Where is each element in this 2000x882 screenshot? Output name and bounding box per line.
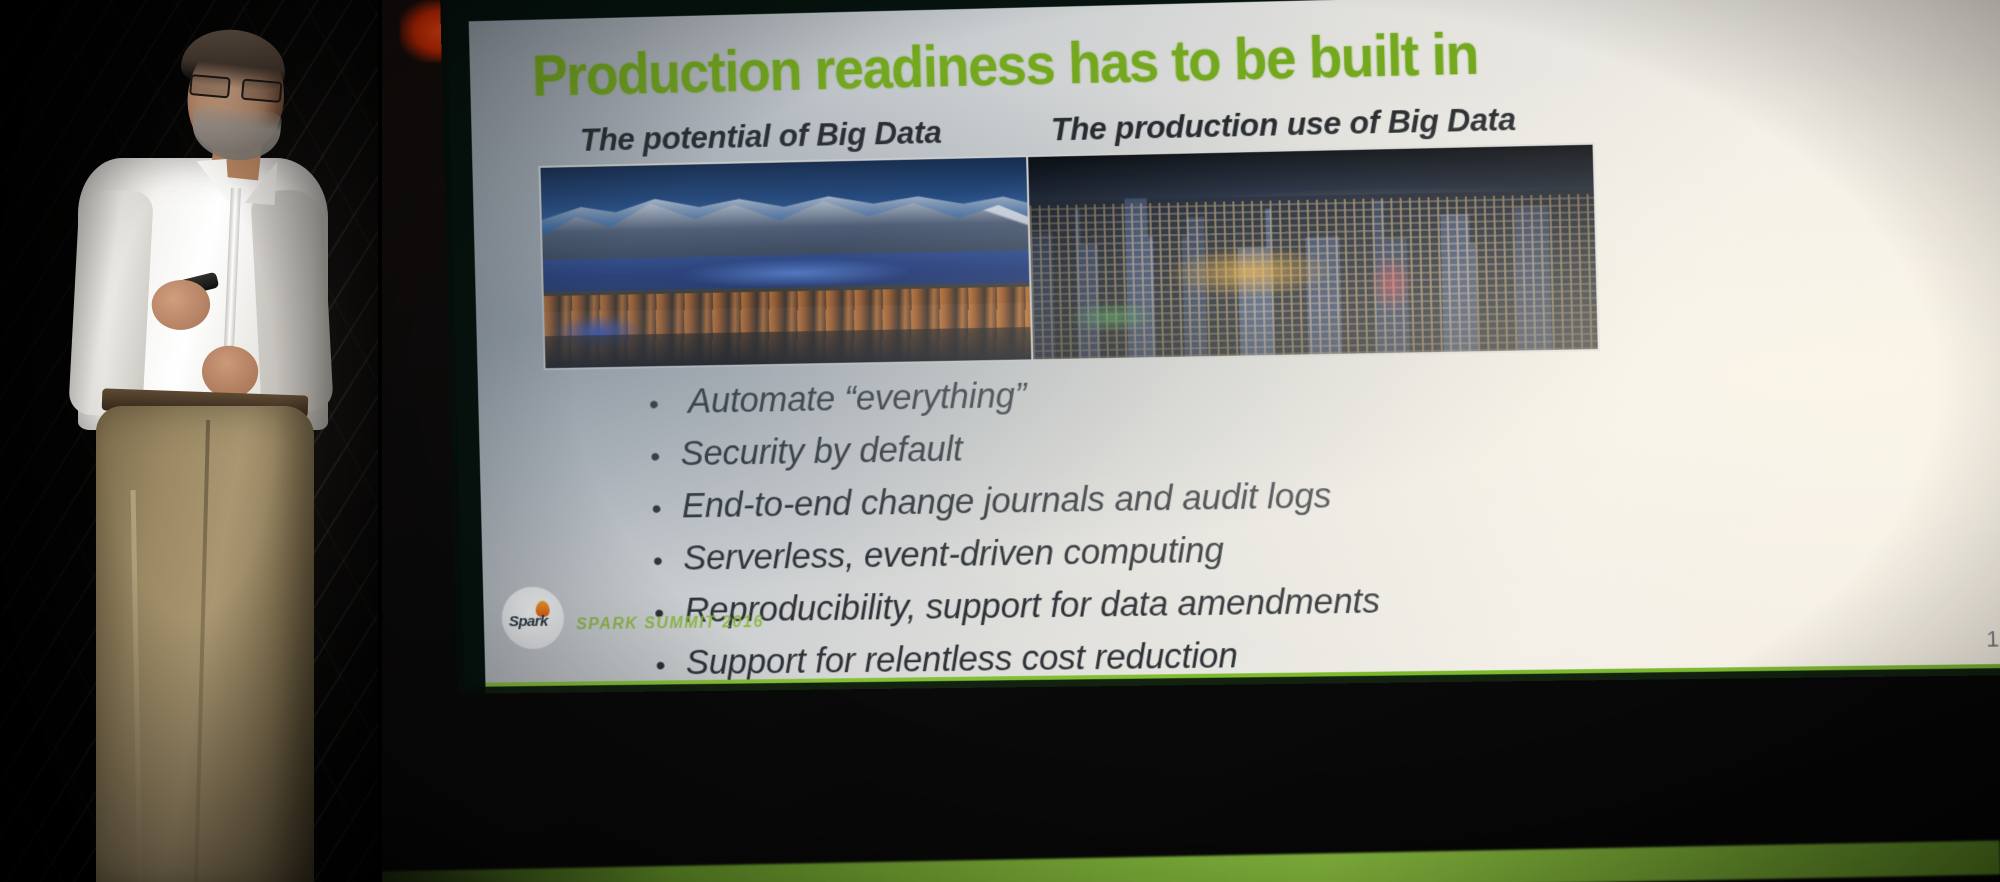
slide-title: Production readiness has to be built in xyxy=(531,10,1900,109)
list-item-label: Security by default xyxy=(680,431,963,471)
page-number: 12 xyxy=(1986,626,2000,653)
logo-wordmark: Spark xyxy=(509,613,548,631)
speaker-collar-right xyxy=(245,159,278,205)
bullet-marker-icon: • xyxy=(651,494,682,523)
speaker-right-arm xyxy=(250,188,334,413)
list-item-label: Automate “everything” xyxy=(679,378,1027,419)
bullet-marker-icon: • xyxy=(649,390,680,419)
mountain-lake-landscape-photo xyxy=(538,155,1044,370)
projection-screen: Production readiness has to be built in … xyxy=(440,0,2000,694)
column-heading-right: The production use of Big Data xyxy=(1050,101,1516,148)
bullet-marker-icon: • xyxy=(653,547,684,576)
event-footer-text: SPARK SUMMIT 2016 xyxy=(576,614,764,635)
bullet-list: • Automate “everything” • Security by de… xyxy=(649,362,1893,693)
speaker-beard xyxy=(190,104,283,165)
panel-divider xyxy=(378,0,382,882)
column-heading-left: The potential of Big Data xyxy=(580,115,942,159)
list-item-label: Reproducibility, support for data amendm… xyxy=(684,583,1380,628)
lake-highlight xyxy=(681,257,910,290)
slide-surface: Production readiness has to be built in … xyxy=(469,0,2000,694)
list-item: • End-to-end change journals and audit l… xyxy=(651,469,1888,524)
bullet-marker-icon: • xyxy=(655,651,686,680)
speaker-photo-panel xyxy=(0,0,380,882)
list-item-label: End-to-end change journals and audit log… xyxy=(681,478,1331,523)
list-item-label: Serverless, event-driven computing xyxy=(683,532,1224,575)
list-item: • Security by default xyxy=(650,416,1887,472)
night-city-skyline-photo xyxy=(1026,143,1600,362)
speaker-figure xyxy=(40,20,340,882)
list-item: • Serverless, event-driven computing xyxy=(652,523,1889,577)
list-item: • Automate “everything” xyxy=(649,362,1886,419)
speaker-left-arm xyxy=(68,188,154,418)
list-item: • Reproducibility, support for data amen… xyxy=(654,576,1891,628)
bullet-marker-icon: • xyxy=(650,442,681,471)
spark-summit-logo-icon: Spark xyxy=(501,586,565,649)
projection-panel: Production readiness has to be built in … xyxy=(380,0,2000,882)
city-vignette xyxy=(1028,145,1598,360)
speaker-collar-left xyxy=(197,159,230,205)
